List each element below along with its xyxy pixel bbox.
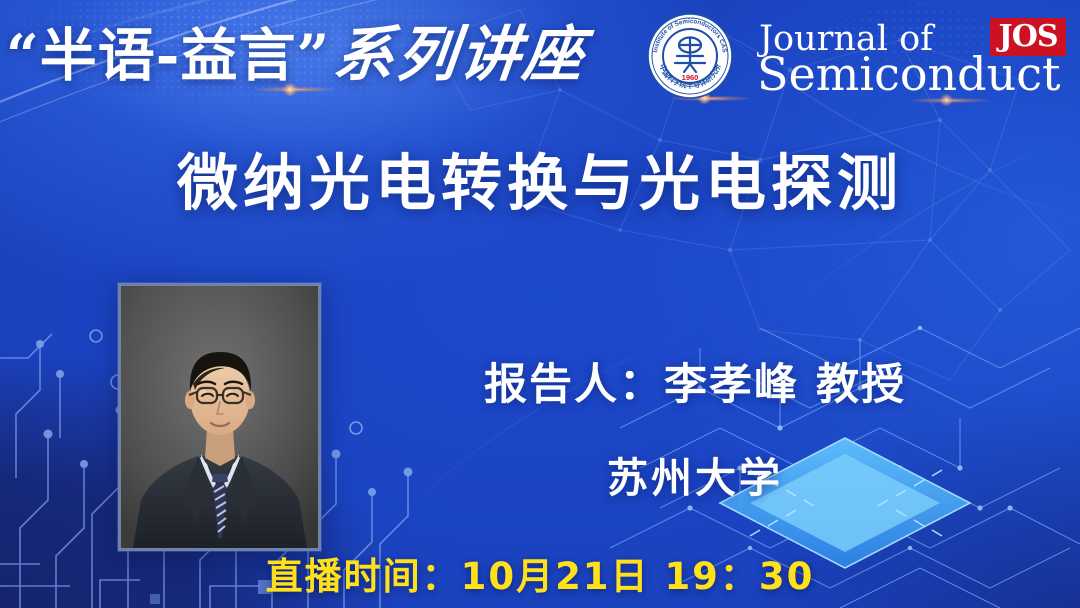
portrait-image [121,286,318,548]
speaker-affiliation: 苏州大学 [345,452,1045,504]
institute-of-semiconductors-cas-seal-icon: Institute of Semiconductors CAS 中国科学院半导体… [644,12,736,100]
jos-badge-label: JOS [999,22,1058,52]
svg-text:1960: 1960 [682,73,699,82]
jos-badge: JOS [990,18,1066,56]
live-time: 直播时间：10月21日 19：30 [0,554,1080,600]
speaker-name: 报告人：李孝峰 教授 [345,358,1045,412]
speaker-portrait [118,283,321,551]
series-title-quoted: “半语-益言” [6,22,330,89]
webinar-poster: “半语-益言”系列讲座 Institute of Semiconductors … [0,0,1080,608]
series-title: “半语-益言”系列讲座 [6,12,606,98]
series-title-script: 系列讲座 [330,12,591,98]
lecture-title: 微纳光电转换与光电探测 [0,146,1080,222]
